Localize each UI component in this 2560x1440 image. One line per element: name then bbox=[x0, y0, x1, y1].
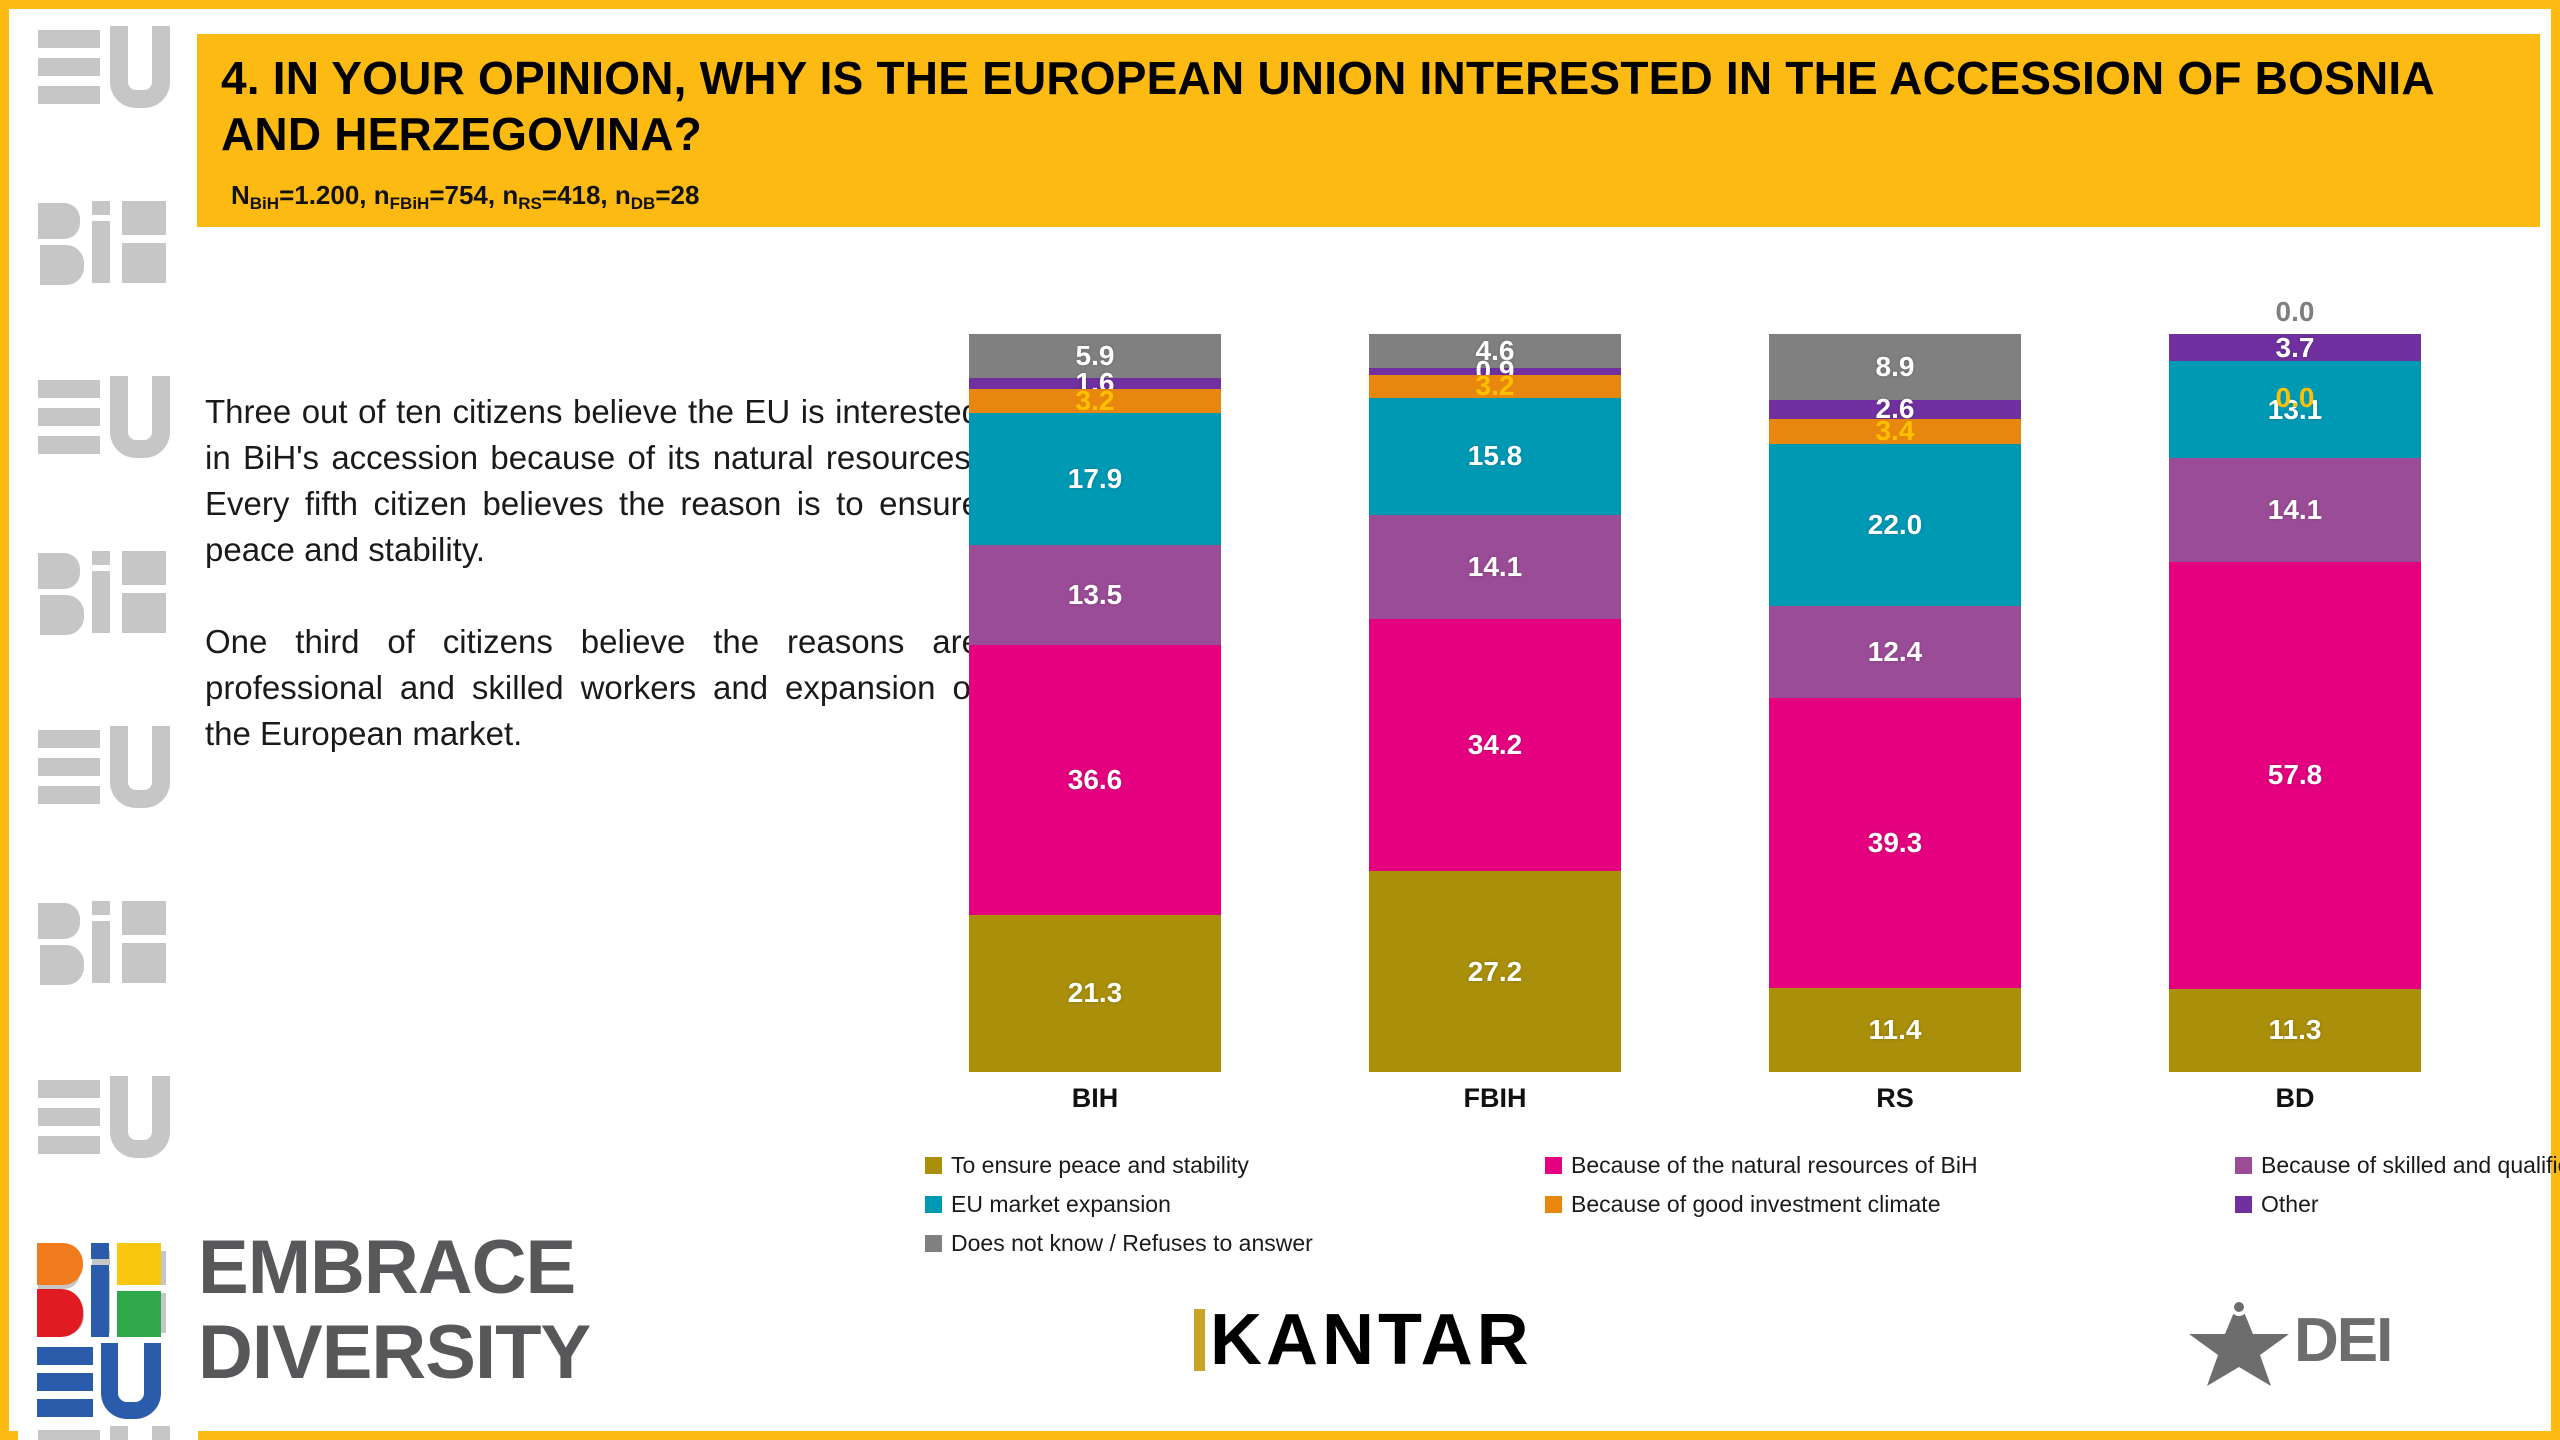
legend-label: Other bbox=[2261, 1193, 2319, 1216]
narrative-paragraph-2: One third of citizens believe the reason… bbox=[205, 619, 980, 757]
legend-label: Because of good investment climate bbox=[1571, 1193, 1940, 1216]
segment-value-label: 36.6 bbox=[1068, 764, 1123, 796]
legend-label: EU market expansion bbox=[951, 1193, 1171, 1216]
watermark-bih-tile bbox=[18, 893, 198, 1068]
category-label-rs: RS bbox=[1769, 1083, 2021, 1114]
legend-swatch-icon bbox=[1545, 1157, 1562, 1174]
category-label-fbih: FBIH bbox=[1369, 1083, 1621, 1114]
stacked-bar-fbih: 4.60.93.215.814.134.227.2 bbox=[1369, 334, 1621, 1072]
bar-segment-bih-1[interactable]: 36.6 bbox=[969, 645, 1221, 915]
legend-item[interactable]: Because of the natural resources of BiH bbox=[1545, 1154, 1978, 1180]
legend-swatch-icon bbox=[2235, 1196, 2252, 1213]
segment-value-label: 22.0 bbox=[1868, 509, 1923, 541]
bar-segment-bd-2[interactable]: 14.1 bbox=[2169, 458, 2421, 562]
bar-segment-rs-3[interactable]: 22.0 bbox=[1769, 444, 2021, 606]
bar-segment-bih-3[interactable]: 17.9 bbox=[969, 413, 1221, 545]
watermark-bih-tile bbox=[18, 543, 198, 718]
watermark-eu-tile bbox=[18, 368, 198, 543]
segment-value-label: 57.8 bbox=[2268, 759, 2323, 791]
bar-segment-rs-0[interactable]: 11.4 bbox=[1769, 988, 2021, 1072]
sample-value-1: =754, bbox=[429, 180, 502, 210]
category-label-bih: BIH bbox=[969, 1083, 1221, 1114]
stacked-bar-chart: 5.91.63.217.913.536.621.3BIH4.60.93.215.… bbox=[969, 264, 2479, 1114]
embrace-diversity-logo: EMBRACE DIVERSITY bbox=[23, 1231, 643, 1431]
legend-item[interactable]: Because of skilled and qualified workers bbox=[2235, 1154, 2560, 1180]
bar-segment-bd-1[interactable]: 57.8 bbox=[2169, 562, 2421, 989]
legend-swatch-icon bbox=[2235, 1157, 2252, 1174]
bar-segment-rs-6[interactable]: 8.9 bbox=[1769, 334, 2021, 400]
bar-segment-rs-4[interactable]: 3.4 bbox=[1769, 419, 2021, 444]
bar-segment-fbih-1[interactable]: 34.2 bbox=[1369, 619, 1621, 871]
page-title: 4. IN YOUR OPINION, WHY IS THE EUROPEAN … bbox=[221, 50, 2511, 162]
segment-value-label: 11.3 bbox=[2269, 1014, 2322, 1046]
legend-swatch-icon bbox=[925, 1235, 942, 1252]
narrative-paragraph-1: Three out of ten citizens believe the EU… bbox=[205, 389, 980, 573]
sample-base-3: n bbox=[615, 180, 631, 210]
segment-value-label: 11.4 bbox=[1869, 1014, 1922, 1046]
segment-value-label: 3.7 bbox=[2276, 332, 2315, 364]
sample-sub-1: FBiH bbox=[390, 194, 430, 213]
bar-segment-bih-0[interactable]: 21.3 bbox=[969, 915, 1221, 1072]
segment-value-label: 8.9 bbox=[1876, 351, 1915, 383]
segment-value-label: 13.5 bbox=[1068, 579, 1123, 611]
watermark-eu-tile bbox=[18, 18, 198, 193]
bar-column-rs[interactable]: 8.92.63.422.012.439.311.4RS bbox=[1769, 334, 2021, 1114]
dei-wordmark: DEI bbox=[2294, 1305, 2391, 1376]
bar-column-bd[interactable]: 3.713.114.157.811.3BD0.00.0 bbox=[2169, 334, 2421, 1114]
watermark-eu-tile bbox=[18, 718, 198, 893]
bih-eu-flag-mark-icon bbox=[33, 1239, 183, 1429]
bar-segment-rs-2[interactable]: 12.4 bbox=[1769, 606, 2021, 698]
sample-sub-2: RS bbox=[518, 194, 542, 213]
legend-item[interactable]: To ensure peace and stability bbox=[925, 1154, 1313, 1180]
segment-value-label: 39.3 bbox=[1868, 827, 1923, 859]
kantar-logo: KANTAR bbox=[1194, 1299, 1533, 1381]
segment-value-label: 14.1 bbox=[2268, 494, 2323, 526]
legend-column-2: Because of skilled and qualified workers… bbox=[2235, 1154, 2560, 1232]
embrace-diversity-wordmark: EMBRACE DIVERSITY bbox=[198, 1225, 590, 1395]
segment-value-label: 17.9 bbox=[1068, 463, 1123, 495]
watermark-eu-tile bbox=[18, 1068, 198, 1243]
legend-item[interactable]: Other bbox=[2235, 1193, 2560, 1219]
stacked-bar-bih: 5.91.63.217.913.536.621.3 bbox=[969, 334, 1221, 1072]
legend-swatch-icon bbox=[925, 1157, 942, 1174]
dei-logo: DEI bbox=[2184, 1294, 2391, 1386]
segment-value-label: 34.2 bbox=[1468, 729, 1523, 761]
sample-value-0: =1.200, bbox=[279, 180, 374, 210]
segment-value-label: 27.2 bbox=[1468, 956, 1523, 988]
bar-segment-fbih-4[interactable]: 3.2 bbox=[1369, 375, 1621, 399]
bar-segment-bd-5[interactable]: 3.7 bbox=[2169, 334, 2421, 361]
embrace-line-2: DIVERSITY bbox=[198, 1310, 590, 1395]
outside-value-label-bd: 0.0 bbox=[2169, 296, 2421, 328]
segment-value-label: 21.3 bbox=[1068, 977, 1123, 1009]
segment-value-label: 3.4 bbox=[1876, 415, 1915, 447]
bar-column-fbih[interactable]: 4.60.93.215.814.134.227.2FBIH bbox=[1369, 334, 1621, 1114]
watermark-bih-tile bbox=[18, 193, 198, 368]
legend-item[interactable]: Because of good investment climate bbox=[1545, 1193, 1978, 1219]
segment-value-label: 12.4 bbox=[1868, 636, 1923, 668]
sample-base-2: n bbox=[502, 180, 518, 210]
legend-column-1: Because of the natural resources of BiHB… bbox=[1545, 1154, 1978, 1232]
bih-eu-watermark-pattern bbox=[18, 18, 198, 1440]
bar-segment-bd-0[interactable]: 11.3 bbox=[2169, 989, 2421, 1072]
kantar-wordmark: KANTAR bbox=[1210, 1299, 1533, 1381]
bar-segment-bih-4[interactable]: 3.2 bbox=[969, 389, 1221, 413]
bar-segment-rs-1[interactable]: 39.3 bbox=[1769, 698, 2021, 988]
segment-value-label: 15.8 bbox=[1468, 440, 1523, 472]
narrative-text: Three out of ten citizens believe the EU… bbox=[205, 389, 980, 803]
legend-swatch-icon bbox=[925, 1196, 942, 1213]
bar-segment-fbih-3[interactable]: 15.8 bbox=[1369, 398, 1621, 515]
sample-value-2: =418, bbox=[542, 180, 615, 210]
outside-value-label-bd-investment: 0.0 bbox=[2169, 382, 2421, 414]
legend-label: Because of skilled and qualified workers bbox=[2261, 1154, 2560, 1177]
sample-sub-0: BiH bbox=[250, 194, 279, 213]
sample-sub-3: DB bbox=[631, 194, 656, 213]
category-label-bd: BD bbox=[2169, 1083, 2421, 1114]
legend-item[interactable]: EU market expansion bbox=[925, 1193, 1313, 1219]
legend-label: Because of the natural resources of BiH bbox=[1571, 1154, 1978, 1177]
bar-segment-bih-2[interactable]: 13.5 bbox=[969, 545, 1221, 645]
embrace-line-1: EMBRACE bbox=[198, 1225, 590, 1310]
legend-item[interactable]: Does not know / Refuses to answer bbox=[925, 1232, 1313, 1258]
bar-segment-fbih-2[interactable]: 14.1 bbox=[1369, 515, 1621, 619]
sample-size-line: NBiH=1.200, nFBiH=754, nRS=418, nDB=28 bbox=[231, 180, 699, 211]
legend-column-0: To ensure peace and stabilityEU market e… bbox=[925, 1154, 1313, 1271]
legend-label: Does not know / Refuses to answer bbox=[951, 1232, 1313, 1255]
kantar-accent-bar-icon bbox=[1194, 1309, 1205, 1371]
stacked-bar-rs: 8.92.63.422.012.439.311.4 bbox=[1769, 334, 2021, 1072]
legend-swatch-icon bbox=[1545, 1196, 1562, 1213]
sample-base-1: n bbox=[374, 180, 390, 210]
star-person-icon bbox=[2184, 1294, 2294, 1386]
segment-value-label: 14.1 bbox=[1468, 551, 1523, 583]
slide-root: 4. IN YOUR OPINION, WHY IS THE EUROPEAN … bbox=[0, 0, 2560, 1440]
legend-label: To ensure peace and stability bbox=[951, 1154, 1249, 1177]
sample-base-0: N bbox=[231, 180, 250, 210]
header-band: 4. IN YOUR OPINION, WHY IS THE EUROPEAN … bbox=[197, 34, 2540, 227]
stacked-bar-bd: 3.713.114.157.811.3 bbox=[2169, 334, 2421, 1072]
sample-value-3: =28 bbox=[655, 180, 699, 210]
bar-column-bih[interactable]: 5.91.63.217.913.536.621.3BIH bbox=[969, 334, 1221, 1114]
bar-segment-fbih-0[interactable]: 27.2 bbox=[1369, 871, 1621, 1072]
